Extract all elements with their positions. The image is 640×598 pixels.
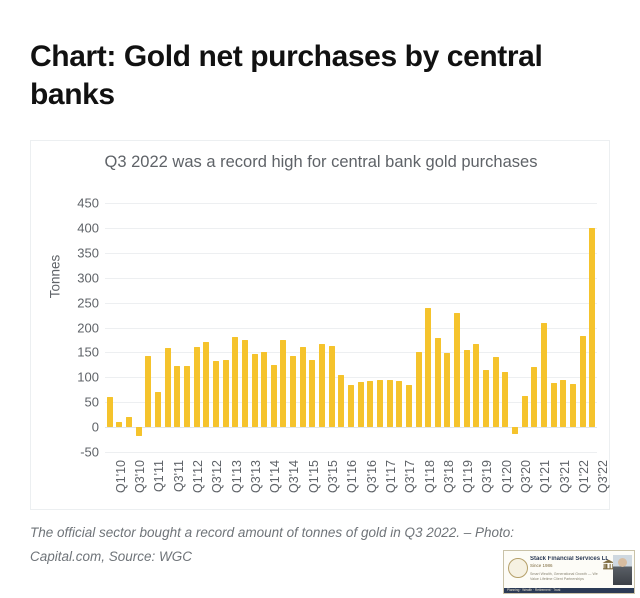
bar[interactable] [512, 427, 518, 433]
bar[interactable] [348, 385, 354, 427]
banner-subtitle: Smart Wealth, Generational Growth — We V… [530, 572, 606, 582]
x-axis-tick: Q3'10 [134, 460, 147, 493]
y-axis-tick: 100 [77, 371, 99, 384]
y-axis-tick: 150 [77, 346, 99, 359]
x-axis-tick: Q1'17 [385, 460, 398, 493]
bar[interactable] [473, 344, 479, 427]
bar[interactable] [444, 353, 450, 427]
bar[interactable] [232, 337, 238, 427]
bar[interactable] [358, 382, 364, 427]
bar[interactable] [377, 380, 383, 427]
bar[interactable] [329, 346, 335, 427]
bar[interactable] [570, 384, 576, 427]
bar[interactable] [531, 367, 537, 427]
bar[interactable] [271, 365, 277, 427]
banner-company-name: Stack Financial Services LLC [530, 556, 608, 563]
bar[interactable] [502, 372, 508, 427]
gridline [105, 452, 597, 453]
x-axis-tick: Q3'14 [288, 460, 301, 493]
x-axis-tick: Q1'16 [346, 460, 359, 493]
portrait-image [613, 555, 632, 585]
bar[interactable] [116, 422, 122, 427]
x-axis-tick: Q3'16 [366, 460, 379, 493]
x-axis-tick: Q3'21 [559, 460, 572, 493]
x-axis-tick: Q1'19 [462, 460, 475, 493]
banner-strip-text: Planning · Wealth · Retirement · Trust [507, 588, 560, 592]
x-axis-tick: Q1'12 [192, 460, 205, 493]
advertisement-banner[interactable]: Stack Financial Services LLC Since 1986 … [503, 550, 635, 594]
x-axis-tick-labels: Q1'10Q3'10Q1'11Q3'11Q1'12Q3'12Q1'13Q3'13… [105, 456, 597, 506]
x-axis-tick: Q1'18 [424, 460, 437, 493]
y-axis-tick: 0 [92, 421, 99, 434]
plot-area: Tonnes -50050100150200250300350400450 Q1… [31, 141, 611, 511]
bar[interactable] [483, 370, 489, 427]
x-axis-tick: Q3'18 [443, 460, 456, 493]
x-axis-tick: Q1'21 [539, 460, 552, 493]
bar[interactable] [367, 381, 373, 427]
bar[interactable] [184, 366, 190, 427]
y-axis-tick: 400 [77, 221, 99, 234]
bar[interactable] [387, 380, 393, 427]
y-axis-tick: 50 [85, 396, 99, 409]
bar[interactable] [165, 348, 171, 427]
x-axis-tick: Q1'20 [501, 460, 514, 493]
x-axis-tick: Q1'22 [578, 460, 591, 493]
bar[interactable] [435, 338, 441, 427]
y-axis-tick: 250 [77, 296, 99, 309]
x-axis-tick: Q3'11 [173, 460, 186, 492]
y-axis-tick: 350 [77, 246, 99, 259]
bar[interactable] [155, 392, 161, 427]
bar[interactable] [136, 427, 142, 435]
x-axis-tick: Q1'15 [308, 460, 321, 493]
bar[interactable] [290, 356, 296, 427]
x-axis-tick: Q1'10 [115, 460, 128, 493]
seal-icon [508, 558, 528, 578]
bar[interactable] [493, 357, 499, 427]
bar[interactable] [541, 323, 547, 428]
y-axis-tick: 200 [77, 321, 99, 334]
y-axis-tick: 300 [77, 271, 99, 284]
bar[interactable] [416, 352, 422, 427]
page-root: Chart: Gold net purchases by central ban… [0, 0, 640, 598]
x-axis-tick: Q3'17 [404, 460, 417, 493]
x-axis-tick: Q3'13 [250, 460, 263, 493]
bar[interactable] [319, 344, 325, 427]
bar[interactable] [174, 366, 180, 427]
x-axis-tick: Q1'14 [269, 460, 282, 493]
bar[interactable] [589, 228, 595, 427]
x-axis-tick: Q3'19 [481, 460, 494, 493]
bar[interactable] [338, 375, 344, 427]
bar[interactable] [107, 397, 113, 427]
x-axis-tick: Q1'13 [231, 460, 244, 493]
y-axis-tick: 450 [77, 197, 99, 210]
bar-series [105, 203, 597, 452]
bar[interactable] [580, 336, 586, 427]
page-title: Chart: Gold net purchases by central ban… [30, 38, 610, 115]
y-axis-tick-labels: -50050100150200250300350400450 [57, 203, 99, 452]
banner-since-text: Since 1986 [530, 564, 608, 569]
x-axis-tick: Q3'15 [327, 460, 340, 493]
bar[interactable] [551, 383, 557, 427]
bar[interactable] [203, 342, 209, 427]
x-axis-tick: Q3'22 [597, 460, 610, 493]
bar[interactable] [194, 347, 200, 427]
y-axis-tick: -50 [80, 446, 99, 459]
banner-footer-strip: Planning · Wealth · Retirement · Trust [504, 588, 634, 593]
bar[interactable] [464, 350, 470, 427]
bar[interactable] [252, 354, 258, 427]
bar[interactable] [145, 356, 151, 427]
bar[interactable] [213, 361, 219, 427]
bar[interactable] [126, 417, 132, 427]
bar[interactable] [242, 340, 248, 427]
bar[interactable] [522, 396, 528, 427]
x-axis-tick: Q1'11 [153, 460, 166, 492]
x-axis-tick: Q3'20 [520, 460, 533, 493]
bar[interactable] [425, 308, 431, 428]
bar[interactable] [223, 360, 229, 427]
bar[interactable] [454, 313, 460, 428]
bar[interactable] [300, 347, 306, 427]
x-axis-tick: Q3'12 [211, 460, 224, 493]
chart-card: Q3 2022 was a record high for central ba… [30, 140, 610, 510]
bar[interactable] [560, 380, 566, 427]
bar[interactable] [280, 340, 286, 427]
bar[interactable] [261, 352, 267, 427]
bar[interactable] [406, 385, 412, 427]
bar[interactable] [396, 381, 402, 427]
bar[interactable] [309, 360, 315, 427]
